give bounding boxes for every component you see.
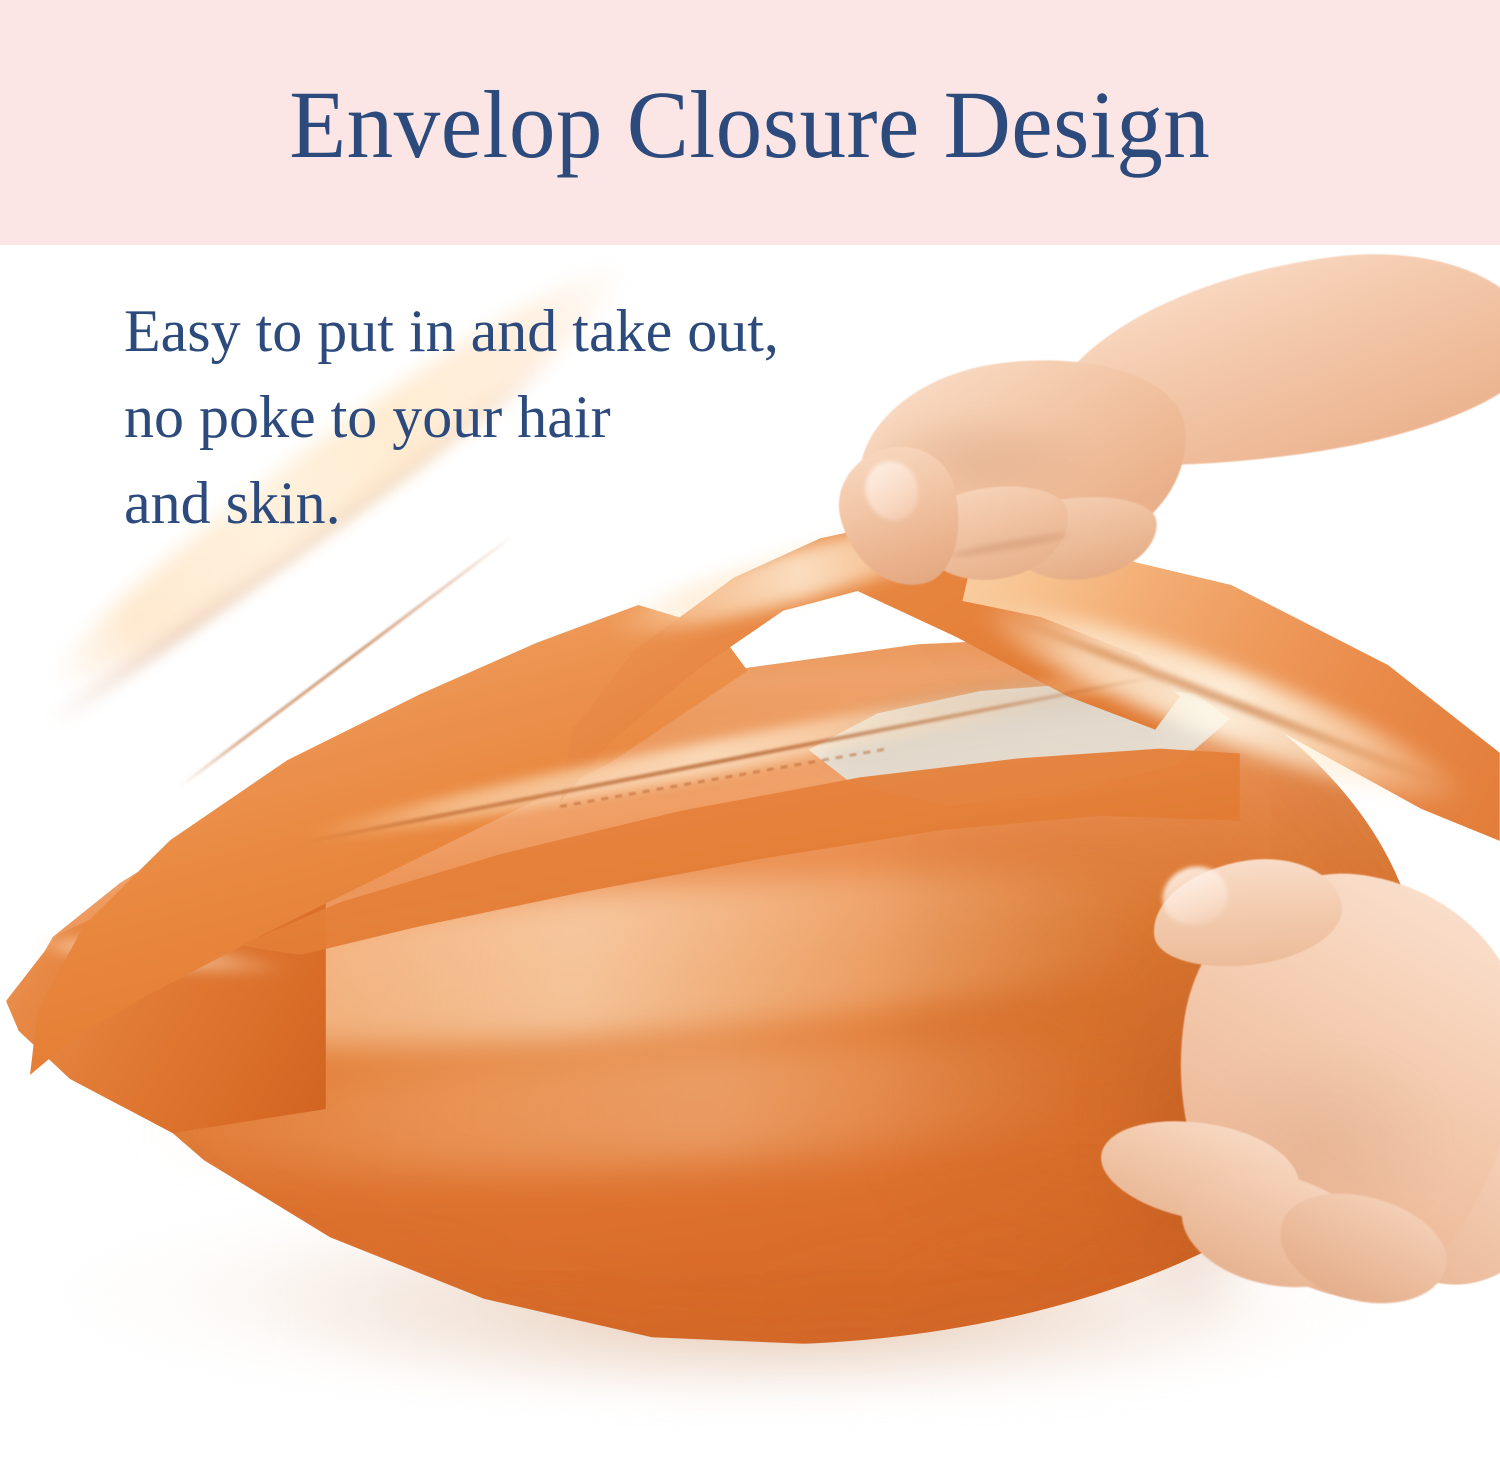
feature-description: Easy to put in and take out, no poke to … xyxy=(124,288,779,546)
feature-line-1: Easy to put in and take out, xyxy=(124,288,779,374)
hand-holding-pillow xyxy=(1090,845,1500,1385)
header-banner: Envelop Closure Design xyxy=(0,0,1500,245)
hand-pulling-flap xyxy=(828,265,1500,585)
product-feature-image: Envelop Closure Design Easy to put in an… xyxy=(0,0,1500,1459)
page-title: Envelop Closure Design xyxy=(289,77,1210,173)
feature-line-3: and skin. xyxy=(124,460,779,546)
feature-line-2: no poke to your hair xyxy=(124,374,779,460)
